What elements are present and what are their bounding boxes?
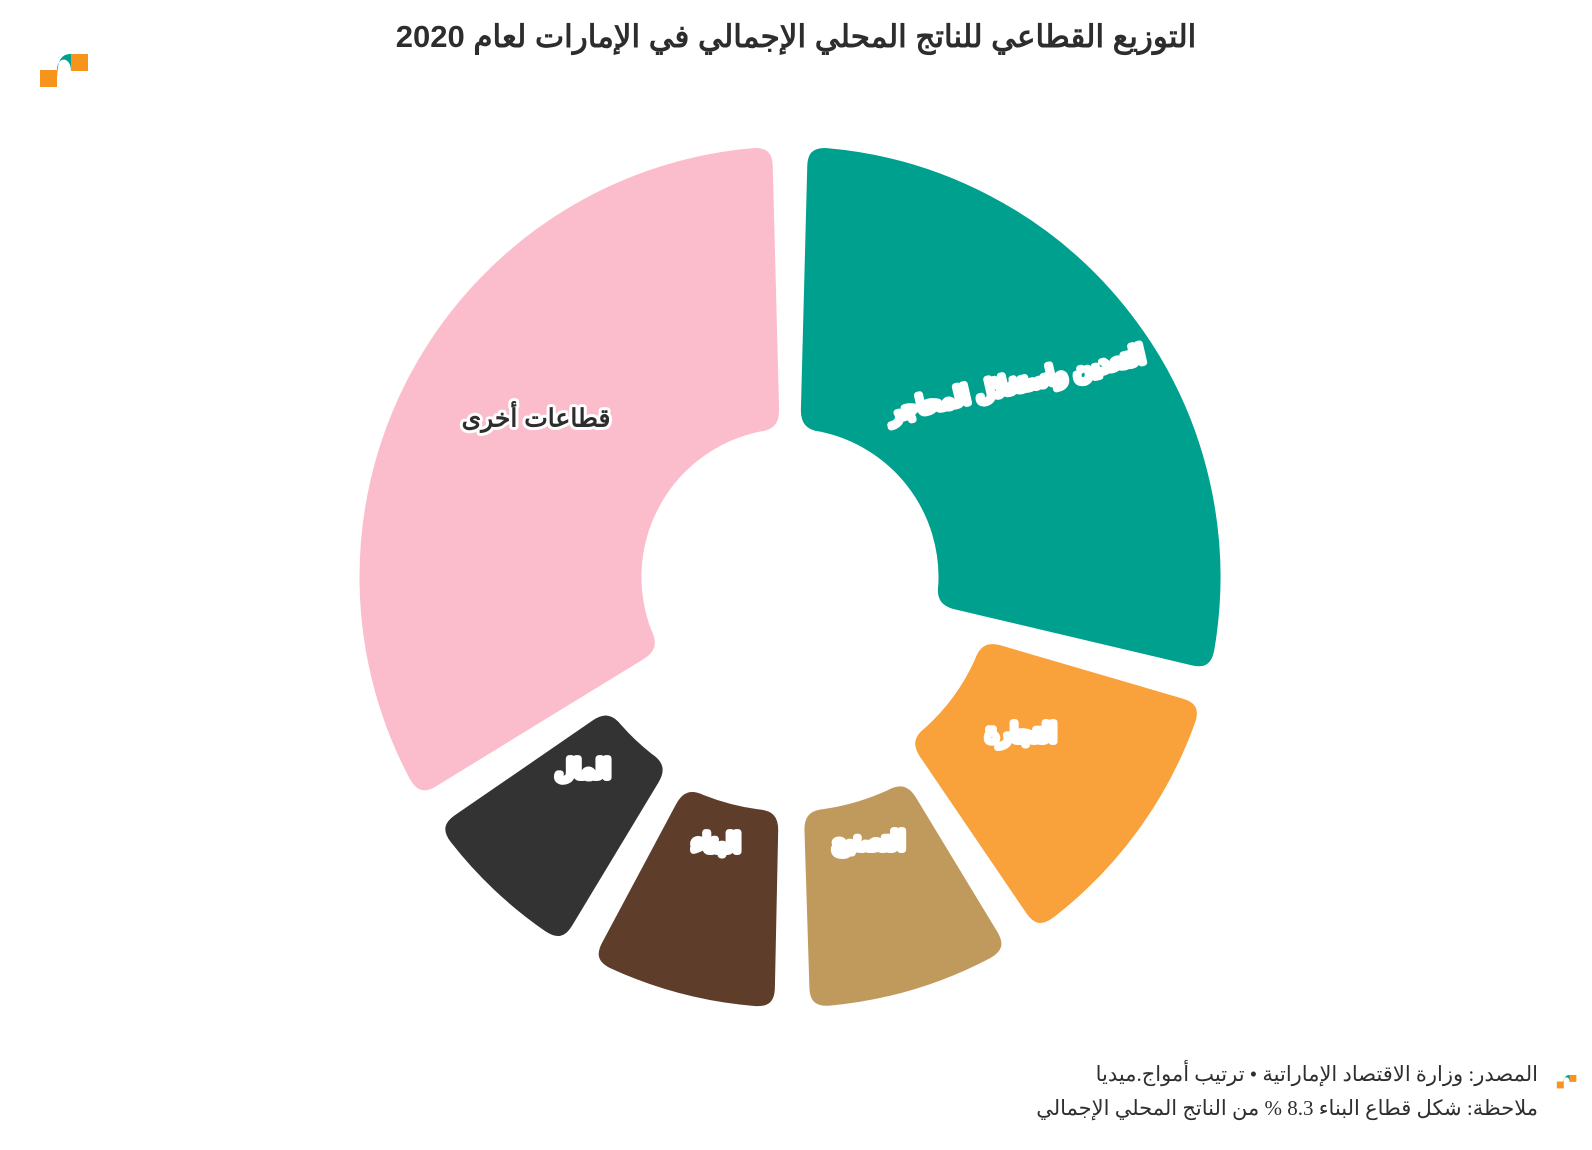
logo-wave-shape xyxy=(57,54,71,87)
pie-slice-label: المال xyxy=(556,756,611,784)
footer-logo-square-top-right xyxy=(1569,1075,1576,1082)
footer-logo-square-bottom-left xyxy=(1557,1082,1564,1089)
footer-note: ملاحظة: شكل قطاع البناء 8.3 % من الناتج … xyxy=(1036,1091,1538,1126)
chart-page: التوزيع القطاعي للناتج المحلي الإجمالي ف… xyxy=(0,0,1592,1150)
pie-slice-label: التجارة xyxy=(985,720,1056,749)
slice-layer xyxy=(353,142,1227,1013)
footer: المصدر: وزارة الاقتصاد الإماراتية • ترتي… xyxy=(1036,1057,1538,1126)
donut-chart-svg: التعدين واستغلال المحاجرالتجارةالتصنيعال… xyxy=(0,95,1592,1025)
footer-logo-wave-shape xyxy=(1564,1075,1570,1088)
pie-slice-label: البناء xyxy=(691,830,740,858)
pie-slice[interactable] xyxy=(353,142,786,797)
logo-square-bottom-left xyxy=(40,70,57,87)
donut-chart: التعدين واستغلال المحاجرالتجارةالتصنيعال… xyxy=(0,95,1592,1025)
pie-slice[interactable] xyxy=(794,142,1227,673)
amwaj-logo-footer-icon xyxy=(1556,1073,1578,1090)
page-title: التوزيع القطاعي للناتج المحلي الإجمالي ف… xyxy=(0,18,1592,57)
pie-slice-label: التصنيع xyxy=(833,828,905,857)
pie-slice-label: قطاعات أخرى xyxy=(462,400,611,434)
footer-source: المصدر: وزارة الاقتصاد الإماراتية • ترتي… xyxy=(1036,1057,1538,1092)
